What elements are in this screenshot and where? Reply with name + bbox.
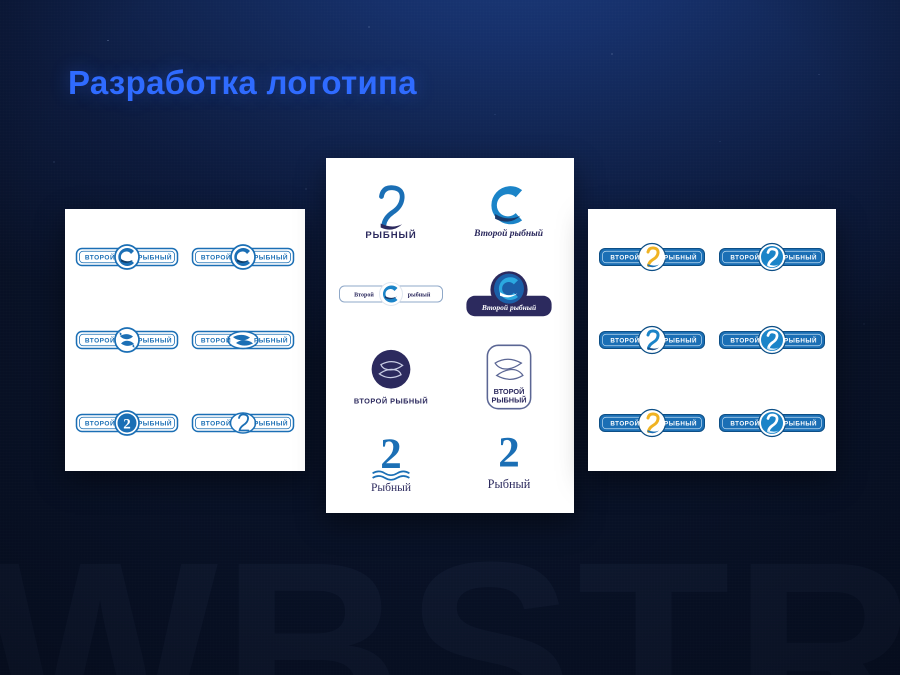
badge-digit-two-outline: ВТОРОЙ РЫБНЫЙ (191, 408, 295, 438)
badge-two-fish-circle-b: ВТОРОЙ РЫБНЫЙ (191, 325, 295, 355)
logo-word-right: РЫБНЫЙ (664, 253, 697, 261)
mark-navy-circle-two-fish: ВТОРОЙ РЫБНЫЙ (348, 346, 434, 408)
slide-canvas: WBSTR WBSTR Разработка логотипа ВТОРОЙ Р… (0, 0, 900, 675)
logo-cell[interactable]: Второй рыбный (450, 168, 568, 252)
center-logo-grid: РЫБНЫЙ Второй рыбный Второй рыбный (326, 158, 574, 513)
logo-cell[interactable]: ВТОРОЙ РЫБНЫЙ (712, 215, 832, 298)
solid-badge-two-yellow-a: ВТОРОЙ РЫБНЫЙ (598, 240, 706, 274)
logo-word-right: РЫБНЫЙ (784, 336, 817, 344)
logo-word-right: рыбный (408, 291, 431, 298)
logo-cell[interactable]: ВТОРОЙ РЫБНЫЙ (185, 382, 301, 465)
logo-digit: 2 (380, 431, 401, 478)
badge-light-wave-c: Второй рыбный (338, 278, 444, 310)
solid-badge-two-yellow-c: ВТОРОЙ РЫБНЫЙ (598, 406, 706, 440)
badge-digit-two-solid: 2 ВТОРОЙ РЫБНЫЙ (75, 408, 179, 438)
logo-cell[interactable]: ВТОРОЙ РЫБНЫЙ (592, 298, 712, 381)
logo-cell[interactable]: Второй рыбный (450, 252, 568, 336)
mark-serif-two-waves: 2 Рыбный (352, 428, 430, 494)
mark-two-fishtail-rybny: РЫБНЫЙ (351, 179, 431, 241)
logo-digit: 2 (498, 429, 519, 476)
logo-caption-line1: ВТОРОЙ (494, 387, 525, 396)
logo-digit: 2 (123, 417, 131, 433)
right-final-panel: ВТОРОЙ РЫБНЫЙ ВТОРОЙ РЫБНЫЙ (588, 209, 836, 471)
badge-navy-wave-c: Второй рыбный (464, 267, 554, 321)
logo-word-left: ВТОРОЙ (610, 420, 639, 428)
logo-cell[interactable]: РЫБНЫЙ (332, 168, 450, 252)
logo-cell[interactable]: 2 Рыбный (332, 419, 450, 503)
mark-fish-rect-outline: ВТОРОЙ РЫБНЫЙ (484, 343, 534, 411)
mark-serif-two-plain: 2 Рыбный (470, 428, 548, 494)
logo-caption-line2: РЫБНЫЙ (491, 396, 526, 405)
page-title: Разработка логотипа (68, 64, 417, 102)
logo-caption: Второй рыбный (473, 228, 543, 239)
logo-caption: Рыбный (488, 477, 531, 491)
logo-word-left: ВТОРОЙ (730, 420, 759, 428)
logo-cell[interactable]: Второй рыбный (332, 252, 450, 336)
solid-badge-two-white-b: ВТОРОЙ РЫБНЫЙ (718, 323, 826, 357)
left-variants-panel: ВТОРОЙ РЫБНЫЙ ВТОРОЙ РЫБНЫЙ (65, 209, 305, 471)
logo-word-right: РЫБНЫЙ (664, 336, 697, 344)
logo-cell[interactable]: ВТОРОЙ РЫБНЫЙ (69, 298, 185, 381)
logo-caption: ВТОРОЙ РЫБНЫЙ (354, 397, 428, 406)
solid-badge-two-white-c: ВТОРОЙ РЫБНЫЙ (718, 406, 826, 440)
logo-cell[interactable]: ВТОРОЙ РЫБНЫЙ (185, 215, 301, 298)
logo-word-right: РЫБНЫЙ (784, 253, 817, 261)
logo-word-right: РЫБНЫЙ (664, 420, 697, 428)
logo-word-right: РЫБНЫЙ (784, 420, 817, 428)
mark-wave-c-vtoroy-rybny: Второй рыбный (463, 179, 555, 241)
logo-word-left: Второй (354, 291, 374, 298)
logo-caption: Рыбный (371, 482, 411, 494)
badge-two-fish-circle-a: ВТОРОЙ РЫБНЫЙ (75, 325, 179, 355)
logo-cell[interactable]: 2 Рыбный (450, 419, 568, 503)
logo-caption: Второй рыбный (481, 303, 536, 312)
logo-caption: РЫБНЫЙ (365, 229, 416, 241)
badge-wave-outline-a: ВТОРОЙ РЫБНЫЙ (75, 242, 179, 272)
logo-cell[interactable]: 2 ВТОРОЙ РЫБНЫЙ (69, 382, 185, 465)
center-concepts-panel: РЫБНЫЙ Второй рыбный Второй рыбный (326, 158, 574, 513)
logo-cell[interactable]: ВТОРОЙ РЫБНЫЙ (450, 336, 568, 420)
logo-word-left: ВТОРОЙ (610, 336, 639, 344)
logo-cell[interactable]: ВТОРОЙ РЫБНЫЙ (712, 298, 832, 381)
badge-wave-outline-b: ВТОРОЙ РЫБНЫЙ (191, 242, 295, 272)
logo-cell[interactable]: ВТОРОЙ РЫБНЫЙ (592, 382, 712, 465)
solid-badge-two-blue-b: ВТОРОЙ РЫБНЫЙ (598, 323, 706, 357)
logo-word-left: ВТОРОЙ (730, 253, 759, 261)
logo-word-left: ВТОРОЙ (610, 253, 639, 261)
logo-cell[interactable]: ВТОРОЙ РЫБНЫЙ (332, 336, 450, 420)
left-logo-grid: ВТОРОЙ РЫБНЫЙ ВТОРОЙ РЫБНЫЙ (65, 209, 305, 471)
logo-word-left: ВТОРОЙ (730, 336, 759, 344)
logo-cell[interactable]: ВТОРОЙ РЫБНЫЙ (185, 298, 301, 381)
logo-cell[interactable]: ВТОРОЙ РЫБНЫЙ (712, 382, 832, 465)
logo-cell[interactable]: ВТОРОЙ РЫБНЫЙ (592, 215, 712, 298)
solid-badge-two-white-a: ВТОРОЙ РЫБНЫЙ (718, 240, 826, 274)
right-logo-grid: ВТОРОЙ РЫБНЫЙ ВТОРОЙ РЫБНЫЙ (588, 209, 836, 471)
logo-cell[interactable]: ВТОРОЙ РЫБНЫЙ (69, 215, 185, 298)
